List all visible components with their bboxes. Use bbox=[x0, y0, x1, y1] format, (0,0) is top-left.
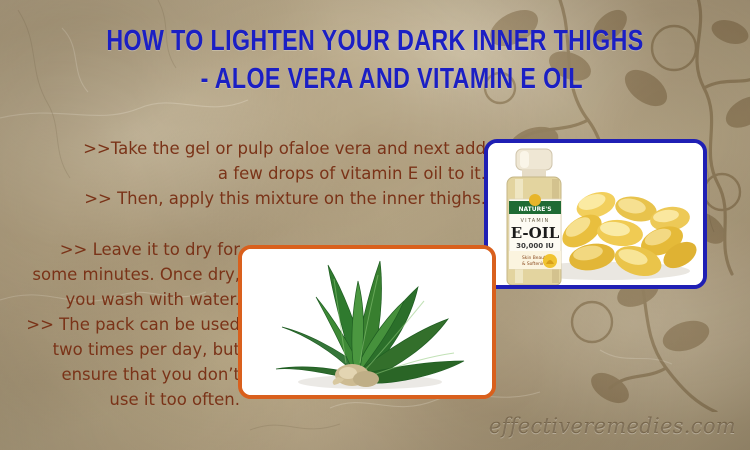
aloe-vera-image bbox=[242, 249, 492, 395]
title-line-2: - ALOE VERA AND VITAMIN E OIL bbox=[75, 60, 675, 98]
title-line-1: HOW TO LIGHTEN YOUR DARK INNER THIGHS bbox=[75, 22, 675, 60]
instruction-line: >> Leave it to dry for bbox=[0, 237, 240, 262]
instruction-line: ensure that you don’t bbox=[0, 362, 240, 387]
instruction-line: two times per day, but bbox=[0, 337, 240, 362]
vitamin-e-oil-photo-card: NATURE'S VITAMIN E-OIL 30,000 IU Skin Be… bbox=[484, 139, 707, 289]
page-title: HOW TO LIGHTEN YOUR DARK INNER THIGHS - … bbox=[75, 22, 675, 98]
svg-text:NATURE'S: NATURE'S bbox=[518, 206, 551, 213]
instruction-block-lower: >> Leave it to dry for some minutes. Onc… bbox=[0, 237, 240, 412]
svg-text:30,000 IU: 30,000 IU bbox=[516, 242, 554, 250]
vitamin-e-oil-image: NATURE'S VITAMIN E-OIL 30,000 IU Skin Be… bbox=[488, 143, 703, 285]
instruction-line: a few drops of vitamin E oil to it. bbox=[6, 161, 486, 186]
svg-text:E-OIL: E-OIL bbox=[511, 224, 560, 242]
instruction-block-upper: >>Take the gel or pulp ofaloe vera and n… bbox=[6, 136, 486, 211]
aloe-vera-photo-card bbox=[238, 245, 496, 399]
instruction-line: >> Then, apply this mixture on the inner… bbox=[6, 186, 486, 211]
instruction-line: >> The pack can be used bbox=[0, 312, 240, 337]
instruction-line: >>Take the gel or pulp ofaloe vera and n… bbox=[6, 136, 486, 161]
watermark: effectiveremedies.com bbox=[489, 414, 736, 438]
infographic-poster: HOW TO LIGHTEN YOUR DARK INNER THIGHS - … bbox=[0, 0, 750, 450]
instruction-line: some minutes. Once dry, bbox=[0, 262, 240, 287]
instruction-line: you wash with water. bbox=[0, 287, 240, 312]
instruction-line: use it too often. bbox=[0, 387, 240, 412]
